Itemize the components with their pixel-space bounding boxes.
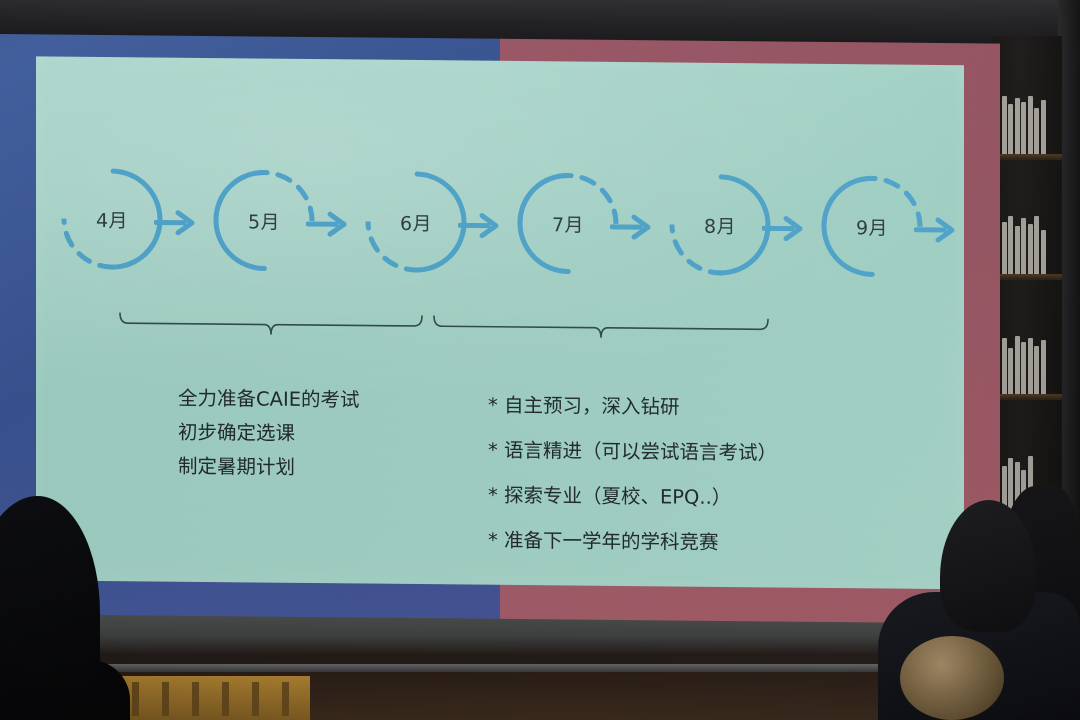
summer-line-3: * 探索专业（夏校、EPQ..）	[488, 473, 777, 521]
summer-line-4: * 准备下一学年的学科竞赛	[488, 518, 777, 566]
spring-line-1: 全力准备CAIE的考试	[178, 382, 360, 418]
timeline-node-2[interactable]: 5月	[206, 162, 322, 279]
month-timeline: 4月 5月	[36, 160, 964, 299]
ceiling-wall	[0, 0, 1080, 40]
timeline-node-6[interactable]: 9月	[814, 168, 930, 285]
timeline-node-1[interactable]: 4月	[54, 161, 170, 278]
timeline-node-5[interactable]: 8月	[662, 166, 778, 283]
chair-back	[110, 676, 310, 720]
arrow-right-icon	[306, 209, 352, 237]
timeline-node-3[interactable]: 6月	[358, 163, 474, 280]
audience-fur-hood	[900, 636, 1004, 720]
spring-line-2: 初步确定选课	[178, 416, 360, 452]
desk-edge	[100, 664, 900, 672]
arrow-right-icon	[762, 213, 808, 241]
timeline-node-label: 5月	[206, 162, 322, 279]
spring-line-3: 制定暑期计划	[178, 450, 360, 486]
slide-content-panel: 4月 5月	[36, 56, 964, 589]
summer-line-1: * 自主预习，深入钻研	[488, 383, 777, 431]
arrow-right-icon	[914, 215, 960, 243]
timeline-node-label: 9月	[814, 168, 930, 285]
timeline-node-label: 8月	[662, 166, 778, 283]
timeline-node-label: 4月	[54, 161, 170, 278]
timeline-node-label: 7月	[510, 165, 626, 282]
arrow-right-icon	[610, 212, 656, 240]
arrow-right-icon	[458, 210, 504, 238]
timeline-node-label: 6月	[358, 163, 474, 280]
book-row	[995, 214, 1059, 274]
summer-group-text: * 自主预习，深入钻研 * 语言精进（可以尝试语言考试） * 探索专业（夏校、E…	[488, 383, 777, 566]
summer-line-2: * 语言精进（可以尝试语言考试）	[488, 428, 777, 476]
arrow-right-icon	[154, 207, 200, 235]
photo-of-projected-slide: 4月 5月	[0, 0, 1080, 720]
projected-slide: 4月 5月	[0, 34, 1000, 624]
bracket-summer-group	[432, 314, 770, 351]
timeline-node-4[interactable]: 7月	[510, 165, 626, 282]
book-row	[995, 334, 1059, 394]
spring-group-text: 全力准备CAIE的考试 初步确定选课 制定暑期计划	[178, 382, 360, 486]
book-row	[995, 94, 1059, 154]
bracket-spring-group	[118, 311, 424, 348]
